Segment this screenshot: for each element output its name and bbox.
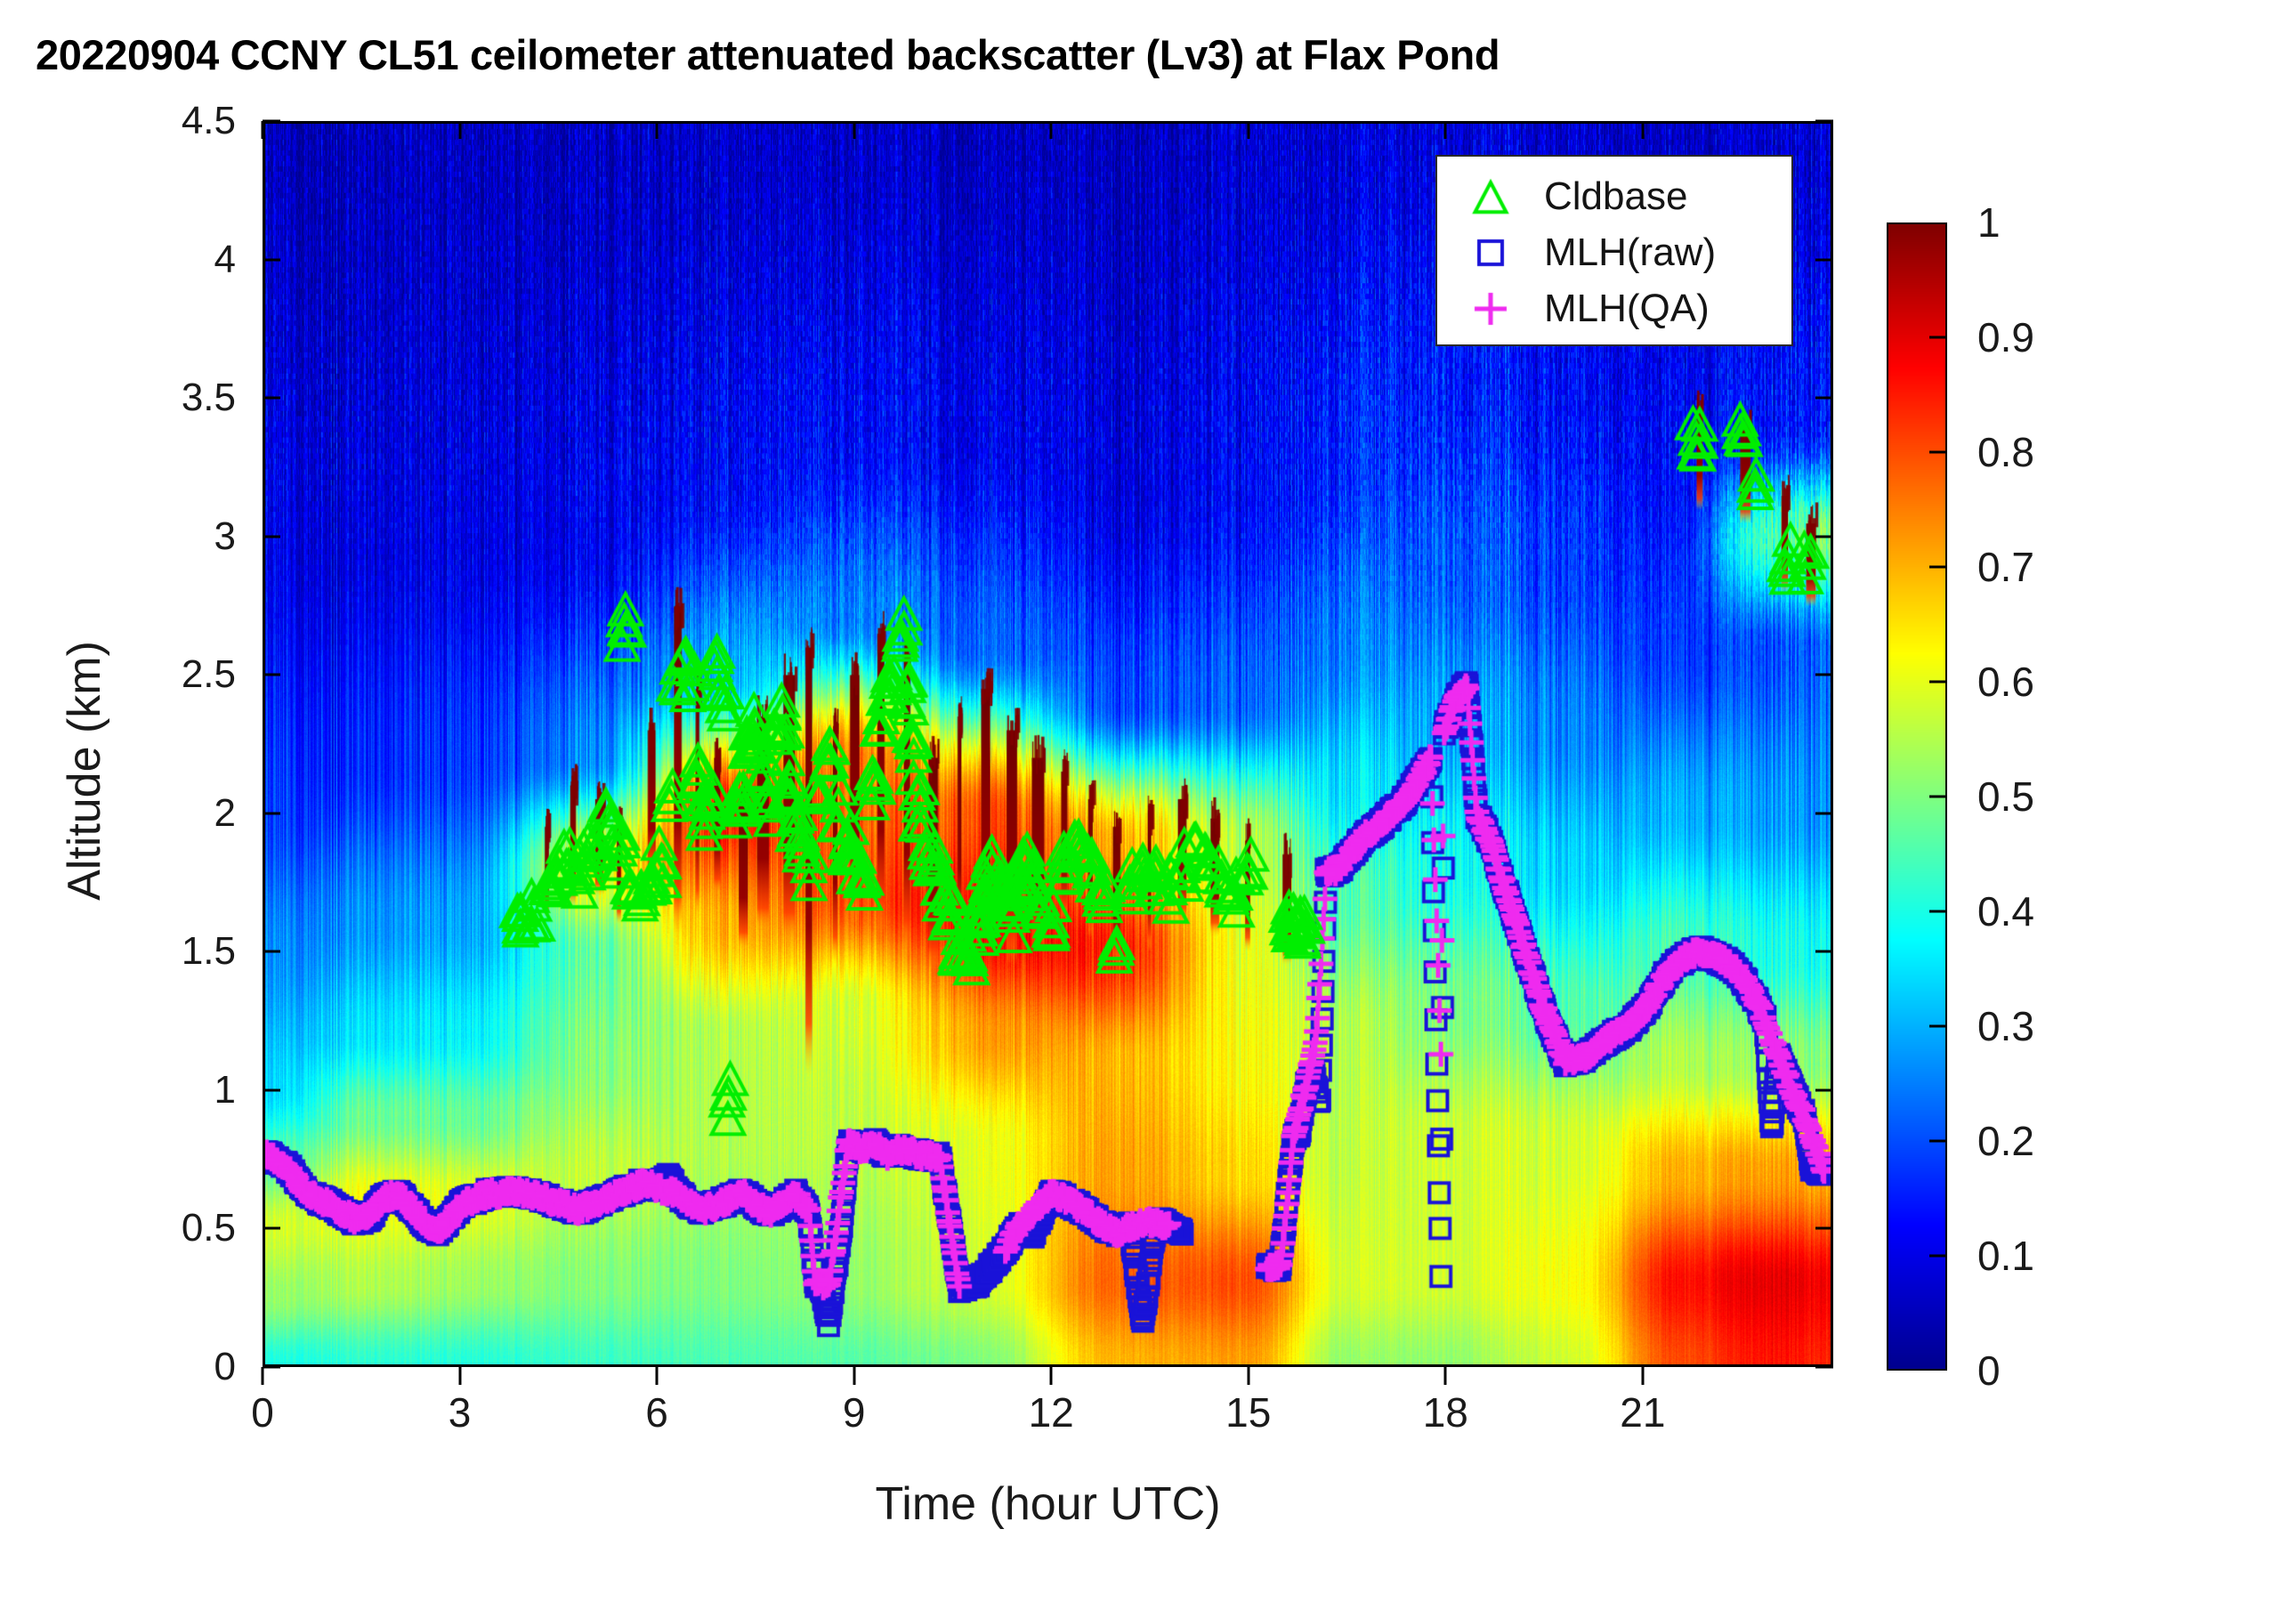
x-tick-label: 3 (449, 1388, 472, 1436)
y-tick-mark (263, 674, 280, 676)
colorbar-tick-mark (1929, 336, 1947, 339)
x-tick-mark (1444, 1367, 1447, 1385)
x-tick-mark (1247, 1367, 1249, 1385)
y-tick-mark (263, 1366, 280, 1369)
y-tick-label: 0 (214, 1345, 236, 1389)
colorbar-tick-mark (1929, 1025, 1947, 1028)
y-tick-label: 2.5 (182, 652, 236, 697)
plus-marker-icon (1437, 282, 1544, 336)
colorbar-tick-label: 0 (1977, 1347, 2001, 1395)
y-tick-label: 0.5 (182, 1206, 236, 1250)
x-tick-mark-top (1444, 121, 1447, 139)
colorbar-tick-mark (1929, 1255, 1947, 1258)
x-tick-mark (458, 1367, 461, 1385)
y-axis-label: Altitude (km) (58, 459, 111, 1082)
legend-item-label: MLH(raw) (1544, 231, 1716, 275)
x-tick-label: 6 (645, 1388, 668, 1436)
colorbar-tick-label: 1 (1977, 198, 2001, 247)
y-tick-mark-right (1815, 1088, 1833, 1091)
y-tick-mark (263, 1088, 280, 1091)
y-tick-mark-right (1815, 1366, 1833, 1369)
y-tick-label: 2 (214, 791, 236, 836)
y-tick-label: 1.5 (182, 929, 236, 974)
x-axis-label: Time (hour UTC) (263, 1477, 1833, 1531)
y-tick-mark-right (1815, 397, 1833, 400)
y-tick-mark (263, 120, 280, 123)
legend-item-cldbase[interactable]: Cldbase (1437, 169, 1791, 224)
y-tick-mark-right (1815, 951, 1833, 953)
y-tick-mark-right (1815, 258, 1833, 261)
colorbar-tick-mark (1929, 566, 1947, 569)
x-tick-label: 18 (1423, 1388, 1468, 1436)
y-tick-mark (263, 812, 280, 814)
x-tick-label: 9 (843, 1388, 866, 1436)
colorbar-tick-mark (1929, 1140, 1947, 1143)
colorbar-tick-label: 0.6 (1977, 658, 2034, 706)
colorbar-tick-mark (1929, 681, 1947, 684)
x-tick-label: 12 (1029, 1388, 1074, 1436)
colorbar-tick-label: 0.3 (1977, 1002, 2034, 1050)
x-tick-mark-top (1247, 121, 1249, 139)
square-marker-icon (1437, 226, 1544, 279)
x-tick-mark-top (853, 121, 855, 139)
x-tick-mark-top (1641, 121, 1644, 139)
y-tick-mark (263, 397, 280, 400)
figure-panel: 20220904 CCNY CL51 ceilometer attenuated… (0, 0, 2296, 1602)
colorbar-tick-label: 0.8 (1977, 428, 2034, 476)
x-tick-label: 15 (1225, 1388, 1271, 1436)
y-tick-mark (263, 951, 280, 953)
x-tick-label: 21 (1620, 1388, 1665, 1436)
y-tick-mark-right (1815, 1227, 1833, 1230)
colorbar-tick-label: 0.9 (1977, 313, 2034, 361)
legend-item-mlhraw[interactable]: MLH(raw) (1437, 225, 1791, 280)
x-tick-mark (1050, 1367, 1053, 1385)
legend-item-label: Cldbase (1544, 174, 1687, 219)
y-tick-label: 3 (214, 514, 236, 559)
y-tick-mark-right (1815, 535, 1833, 538)
colorbar-tick-mark (1929, 910, 1947, 913)
x-tick-mark-top (262, 121, 264, 139)
x-tick-mark-top (1050, 121, 1053, 139)
colorbar-tick-mark (1929, 796, 1947, 798)
y-tick-mark-right (1815, 674, 1833, 676)
y-tick-mark-right (1815, 812, 1833, 814)
colorbar-tick-label: 0.1 (1977, 1232, 2034, 1280)
y-tick-mark (263, 258, 280, 261)
colorbar-tick-label: 0.2 (1977, 1117, 2034, 1165)
y-tick-label: 4 (214, 238, 236, 282)
colorbar-tick-label: 0.4 (1977, 887, 2034, 935)
colorbar-tick-label: 0.5 (1977, 773, 2034, 821)
legend-item-mlhqa[interactable]: MLH(QA) (1437, 281, 1791, 336)
y-tick-mark-right (1815, 120, 1833, 123)
page-title: 20220904 CCNY CL51 ceilometer attenuated… (36, 30, 2171, 79)
y-tick-label: 3.5 (182, 376, 236, 420)
x-tick-label: 0 (251, 1388, 274, 1436)
triangle-marker-icon (1437, 170, 1544, 223)
y-tick-label: 1 (214, 1068, 236, 1112)
x-tick-mark (262, 1367, 264, 1385)
x-tick-mark-top (458, 121, 461, 139)
y-tick-mark (263, 535, 280, 538)
x-tick-mark-top (656, 121, 659, 139)
colorbar-tick-mark (1929, 451, 1947, 454)
x-tick-mark (853, 1367, 855, 1385)
x-tick-mark (1641, 1367, 1644, 1385)
colorbar-tick-label: 0.7 (1977, 543, 2034, 591)
legend-item-label: MLH(QA) (1544, 287, 1710, 331)
legend-box: CldbaseMLH(raw)MLH(QA) (1435, 155, 1793, 346)
x-tick-mark (656, 1367, 659, 1385)
y-tick-mark (263, 1227, 280, 1230)
y-tick-label: 4.5 (182, 99, 236, 143)
